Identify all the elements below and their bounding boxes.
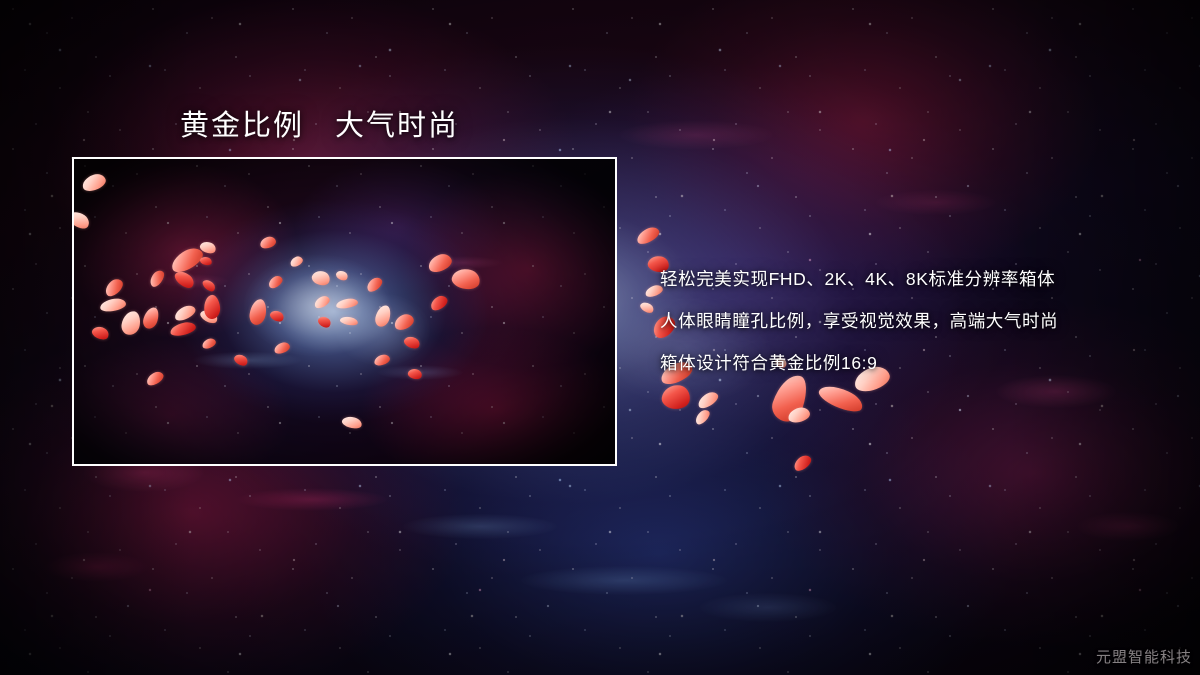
photo-core-glow <box>74 159 615 464</box>
photo-nebula-base <box>74 159 615 464</box>
petal <box>816 380 866 416</box>
photo-petal <box>266 274 284 290</box>
photo-petal <box>201 337 217 350</box>
photo-petal <box>402 334 421 351</box>
framed-galaxy-photo <box>72 157 617 466</box>
photo-petal <box>141 305 161 330</box>
photo-petal <box>80 172 107 194</box>
photo-petal <box>232 352 249 368</box>
photo-petal <box>120 310 142 337</box>
photo-petal <box>99 297 126 313</box>
photo-petal <box>201 277 217 293</box>
photo-petal <box>248 298 267 326</box>
photo-petal <box>289 255 305 269</box>
photo-petal <box>313 294 332 310</box>
photo-petal <box>169 320 197 337</box>
petal <box>660 383 691 411</box>
photo-petal <box>341 414 363 430</box>
photo-petal <box>392 312 416 332</box>
watermark: 元盟智能科技 <box>1096 646 1192 667</box>
petal <box>791 453 813 474</box>
petal <box>693 407 712 426</box>
slide-canvas: 黄金比例 大气时尚 轻松完美实现FHD、2K、4K、8K标准分辨率箱体 人体眼睛… <box>0 0 1200 675</box>
photo-petal <box>72 208 92 232</box>
photo-petal <box>102 276 126 299</box>
photo-nebula-wisps <box>74 159 615 464</box>
photo-petal <box>335 298 358 310</box>
photo-starfield <box>74 159 615 464</box>
page-title: 黄金比例 大气时尚 <box>180 102 459 144</box>
photo-petal <box>173 303 198 323</box>
photo-petal <box>407 367 423 381</box>
photo-petal <box>374 304 393 329</box>
photo-petal <box>199 239 218 255</box>
photo-petal <box>168 244 206 276</box>
photo-petal <box>339 315 358 327</box>
photo-petal <box>335 269 350 283</box>
photo-petal <box>268 308 285 323</box>
body-line: 箱体设计符合黄金比例16:9 <box>660 342 1160 384</box>
petal <box>634 224 661 246</box>
photo-petal <box>172 268 196 291</box>
photo-petal <box>90 324 111 342</box>
photo-petal <box>450 266 482 292</box>
body-line: 轻松完美实现FHD、2K、4K、8K标准分辨率箱体 <box>660 258 1160 300</box>
photo-petal <box>273 341 291 355</box>
photo-petal <box>316 314 332 330</box>
photo-petal <box>428 293 450 312</box>
photo-petal <box>259 235 277 250</box>
petal <box>639 300 656 315</box>
photo-petal <box>198 307 219 326</box>
body-copy: 轻松完美实现FHD、2K、4K、8K标准分辨率箱体 人体眼睛瞳孔比例，享受视觉效… <box>660 258 1160 384</box>
photo-petal <box>373 353 391 367</box>
petal <box>787 406 811 424</box>
photo-vignette <box>74 159 615 464</box>
photo-petal <box>147 268 167 289</box>
photo-petal <box>364 275 384 294</box>
petal <box>695 389 720 410</box>
photo-petal <box>426 251 454 274</box>
photo-petal <box>203 294 221 320</box>
photo-petal <box>310 268 332 288</box>
photo-petal <box>199 255 213 266</box>
photo-petal <box>144 369 165 387</box>
body-line: 人体眼睛瞳孔比例，享受视觉效果，高端大气时尚 <box>660 300 1160 342</box>
